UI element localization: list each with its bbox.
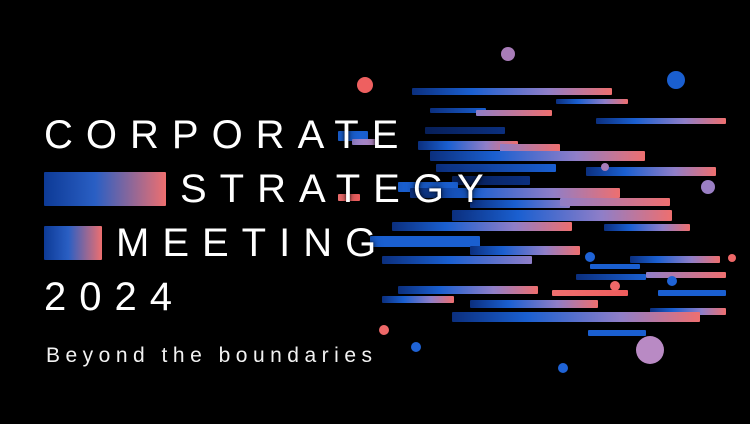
gradient-bar xyxy=(576,274,646,280)
headline-year: 2024 xyxy=(44,277,185,317)
accent-dot xyxy=(636,336,664,364)
accent-dot xyxy=(728,254,736,262)
accent-dot xyxy=(585,252,595,262)
accent-dot xyxy=(667,71,685,89)
gradient-bar xyxy=(646,272,726,278)
poster-canvas: CORPORATE STRATEGY MEETING 2024 Beyond t… xyxy=(0,0,750,424)
accent-bar-strategy xyxy=(44,172,166,206)
accent-dot xyxy=(379,325,389,335)
gradient-bar xyxy=(604,224,690,231)
headline-meeting: MEETING xyxy=(116,223,389,263)
accent-dot xyxy=(558,363,568,373)
gradient-bar xyxy=(412,88,612,95)
headline-corporate: CORPORATE xyxy=(44,115,411,155)
gradient-bar xyxy=(556,99,628,104)
gradient-bar xyxy=(596,118,726,124)
gradient-bar xyxy=(552,290,628,296)
accent-dot xyxy=(357,77,373,93)
gradient-bar xyxy=(560,198,670,206)
poster-subtitle: Beyond the boundaries xyxy=(46,344,378,368)
accent-dot xyxy=(610,281,620,291)
gradient-bar xyxy=(658,290,726,296)
accent-dot xyxy=(601,163,609,171)
title-line-meeting: MEETING xyxy=(44,216,544,270)
title-block: CORPORATE STRATEGY MEETING 2024 xyxy=(44,108,544,324)
gradient-bar xyxy=(588,330,646,336)
title-line-corporate: CORPORATE xyxy=(44,108,544,162)
gradient-bar xyxy=(590,264,640,269)
gradient-bar xyxy=(630,256,720,263)
title-line-year: 2024 xyxy=(44,270,544,324)
accent-dot xyxy=(667,276,677,286)
title-line-strategy: STRATEGY xyxy=(44,162,544,216)
accent-bar-meeting xyxy=(44,226,102,260)
accent-dot xyxy=(411,342,421,352)
accent-dot xyxy=(701,180,715,194)
headline-strategy: STRATEGY xyxy=(180,169,497,209)
accent-dot xyxy=(501,47,515,61)
